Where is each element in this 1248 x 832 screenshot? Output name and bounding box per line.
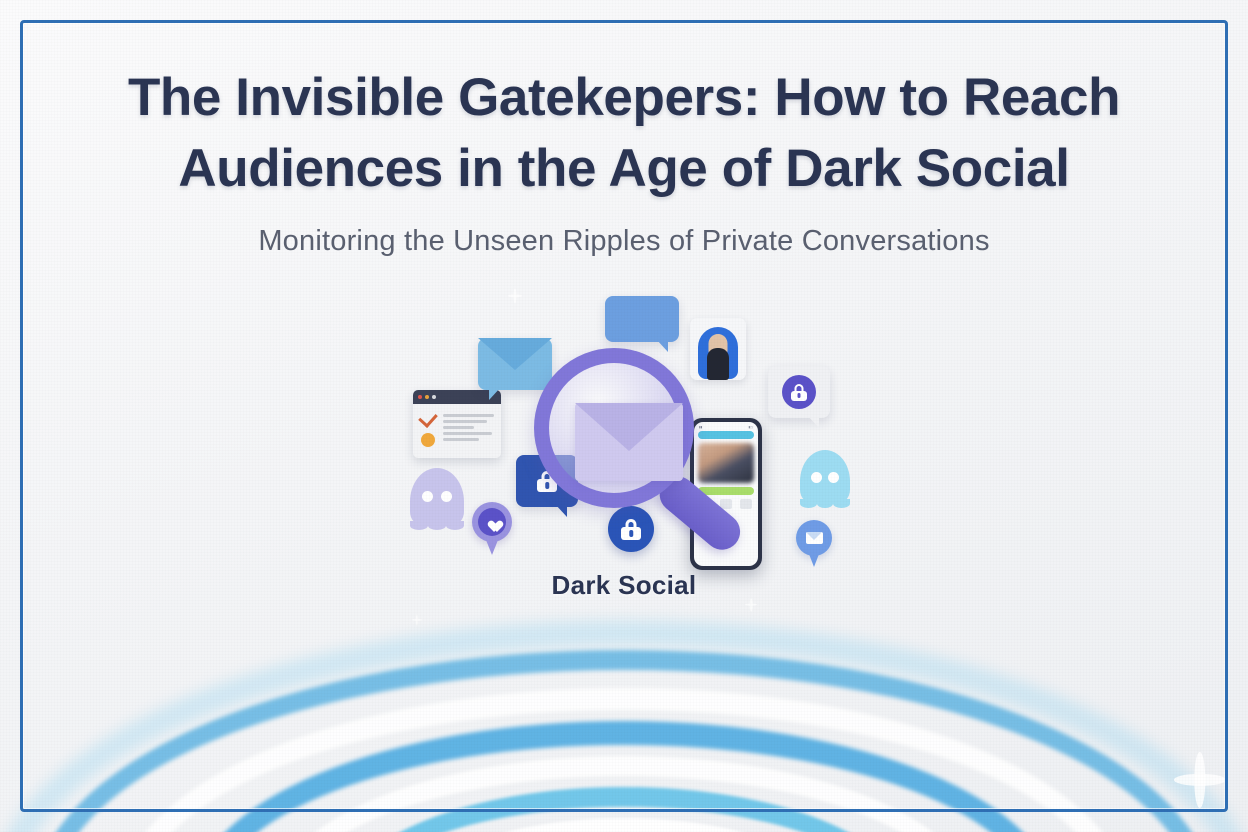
ghost-untracked-icon	[410, 468, 464, 526]
traffic-dot-red	[418, 395, 422, 399]
ripple-outer-haze	[0, 620, 1248, 832]
sparkle-icon	[1174, 752, 1226, 808]
sparkle-icon	[508, 288, 522, 303]
magnifying-glass-icon	[534, 348, 716, 548]
ripple-rings	[34, 620, 1214, 832]
lock-icon	[791, 384, 807, 401]
browser-window-icon	[413, 390, 501, 458]
envelope-under-lens-icon	[575, 403, 683, 481]
encrypted-message-bubble	[768, 366, 830, 418]
title-line-1: The Invisible Gatekepers: How to Reach	[90, 62, 1158, 133]
ghost-eye-right	[441, 491, 452, 502]
envelope-icon	[806, 532, 823, 544]
page-title: The Invisible Gatekepers: How to Reach A…	[0, 62, 1248, 204]
sparkle-icon	[412, 614, 422, 625]
padlock-badge-purple	[782, 375, 816, 409]
orange-dot-icon	[421, 433, 435, 447]
browser-titlebar	[413, 390, 501, 404]
traffic-dot-gray	[432, 395, 436, 399]
envelope-pin	[796, 520, 832, 570]
presentation-slide: The Invisible Gatekepers: How to Reach A…	[0, 0, 1248, 832]
heart-reaction-pin	[472, 502, 512, 556]
traffic-dot-yellow	[425, 395, 429, 399]
ghost-eye-right	[828, 472, 839, 483]
heart-icon	[486, 516, 499, 528]
browser-text-lines	[443, 412, 494, 447]
page-subtitle: Monitoring the Unseen Ripples of Private…	[0, 222, 1248, 260]
sparkle-icon	[745, 598, 757, 611]
checkmark-icon	[418, 408, 438, 428]
magnifier-lens	[534, 348, 694, 508]
center-label: Dark Social	[0, 570, 1248, 601]
ghost-eye-left	[811, 472, 822, 483]
title-line-2: Audiences in the Age of Dark Social	[90, 133, 1158, 204]
ghost-eye-left	[422, 491, 433, 502]
ghost-untracked-icon	[800, 450, 850, 504]
chat-bubble-message	[605, 296, 679, 342]
